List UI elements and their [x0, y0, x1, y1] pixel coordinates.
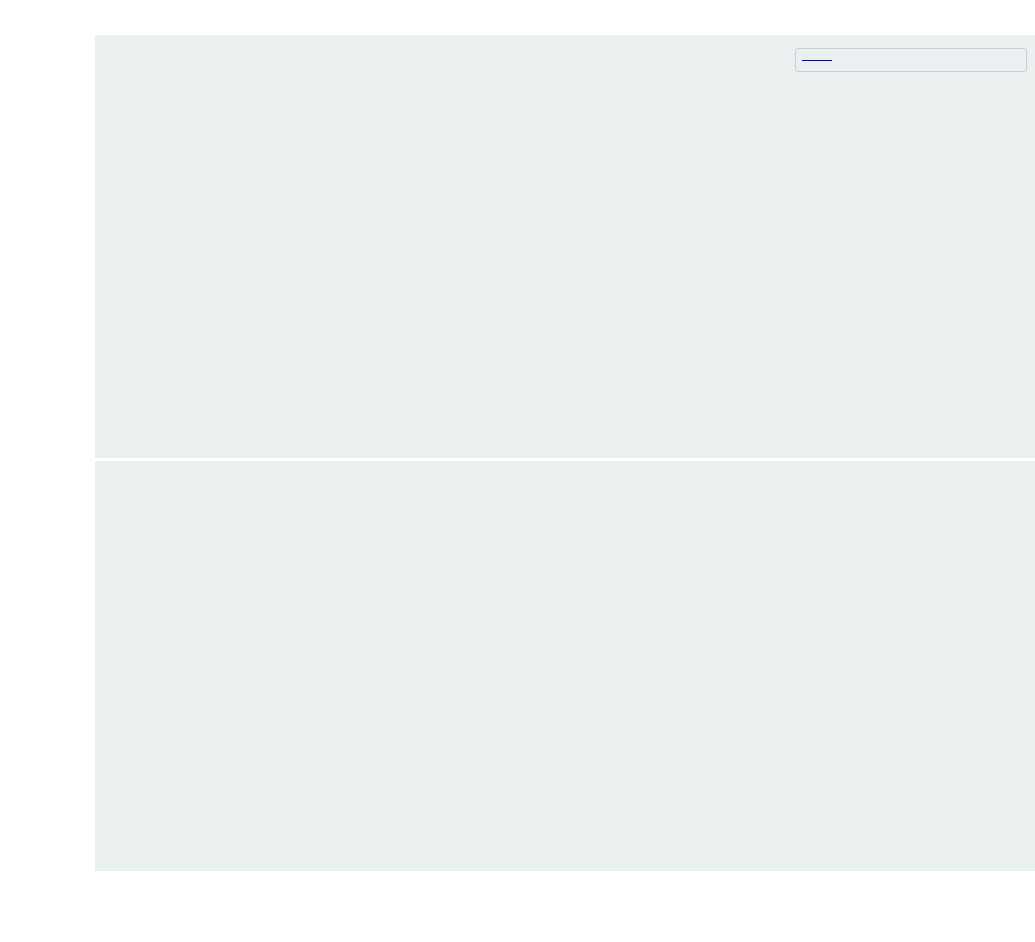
chart-root	[0, 0, 1035, 942]
company-series-line	[190, 70, 1035, 493]
legend[interactable]	[795, 48, 1027, 72]
legend-line-swatch	[802, 60, 832, 61]
top-plot-panel	[95, 35, 1035, 458]
bottom-plot-panel	[95, 461, 1035, 871]
